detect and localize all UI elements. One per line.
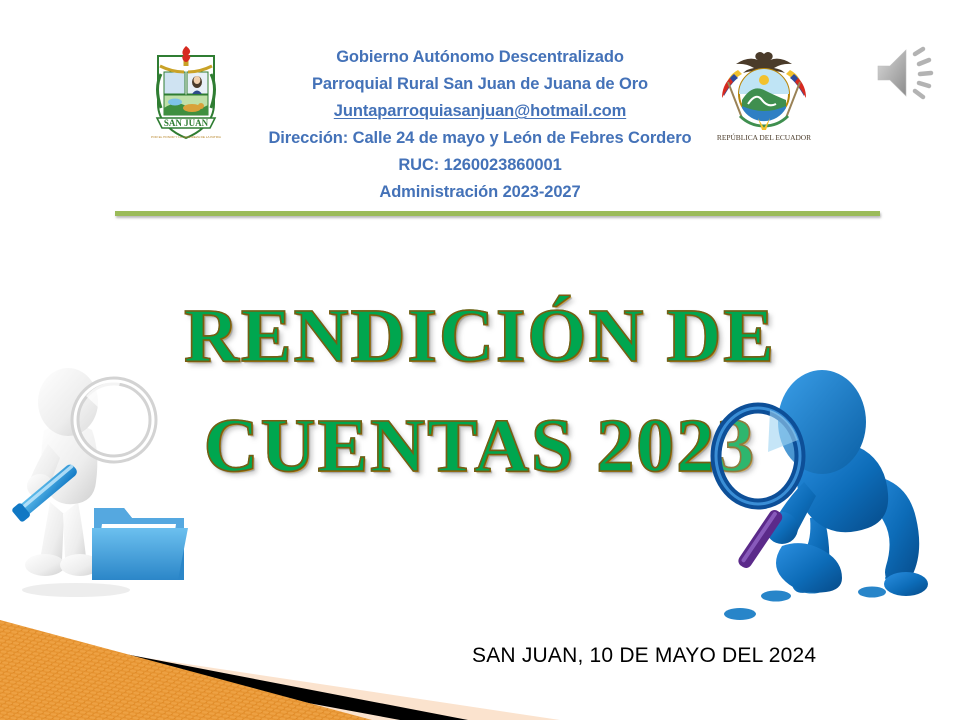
header-line-2: Parroquial Rural San Juan de Juana de Or… bbox=[230, 71, 730, 98]
blue-3d-person-crouching-with-magnifier-icon bbox=[706, 356, 960, 624]
escudo-san-juan-icon: SAN JUAN POR EL HONOR Y LA GRANDEZA DE L… bbox=[148, 46, 224, 144]
white-3d-person-with-magnifier-and-folder-icon bbox=[6, 352, 202, 602]
header-text-block: Gobierno Autónomo Descentralizado Parroq… bbox=[230, 44, 730, 206]
slide-header: SAN JUAN POR EL HONOR Y LA GRANDEZA DE L… bbox=[0, 36, 960, 216]
header-divider-rule bbox=[115, 211, 880, 216]
escudo-san-juan-motto: POR EL HONOR Y LA GRANDEZA DE LA PATRIA bbox=[151, 135, 222, 139]
header-address: Dirección: Calle 24 de mayo y León de Fe… bbox=[230, 125, 730, 152]
presentation-slide: SAN JUAN POR EL HONOR Y LA GRANDEZA DE L… bbox=[0, 0, 960, 720]
footer-date-caption: SAN JUAN, 10 DE MAYO DEL 2024 bbox=[472, 644, 816, 668]
header-administration: Administración 2023-2027 bbox=[230, 179, 730, 206]
header-ruc: RUC: 1260023860001 bbox=[230, 152, 730, 179]
speaker-audio-icon[interactable] bbox=[872, 38, 944, 112]
escudo-ecuador-caption: REPÚBLICA DEL ECUADOR bbox=[717, 132, 811, 142]
escudo-san-juan-caption: SAN JUAN bbox=[164, 118, 209, 128]
escudo-republica-del-ecuador-icon: REPÚBLICA DEL ECUADOR bbox=[712, 48, 816, 144]
header-line-1: Gobierno Autónomo Descentralizado bbox=[230, 44, 730, 71]
header-email-link[interactable]: Juntaparroquiasanjuan@hotmail.com bbox=[230, 98, 730, 125]
